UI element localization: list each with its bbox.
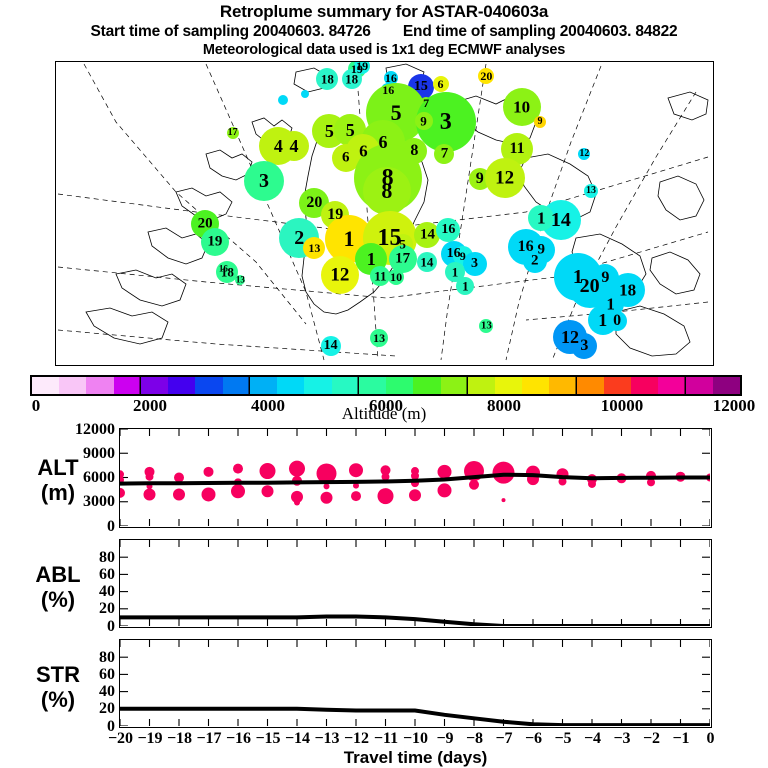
plume-bubble-label: 5 [325,122,334,140]
plume-bubble-label: 15 [378,226,402,250]
altitude-colorbar [30,375,742,396]
alt-scatter-point [260,463,276,479]
x-tick: −3 [613,730,630,748]
plume-bubble-label: 1 [537,210,546,227]
alt-y-tick: 6000 [55,469,115,487]
abl-y-tick: 0 [55,618,115,636]
plume-bubble-label: 13 [308,242,320,254]
plume-bubble-label: 14 [420,227,435,242]
plume-bubble-label: 1 [606,295,615,312]
x-tick: −5 [554,730,571,748]
x-tick: −6 [525,730,542,748]
plume-bubble-label: 14 [324,339,338,353]
colorbar-segment [522,377,549,394]
x-tick: −8 [466,730,483,748]
colorbar-segment [359,377,386,394]
plume-bubble-label: 16 [441,223,455,237]
alt-timeseries-panel [119,428,712,528]
plume-bubble-label: 0 [613,313,621,329]
x-tick: −13 [314,730,339,748]
plume-bubble-label: 9 [538,243,546,258]
plume-bubble-label: 3 [440,110,452,134]
plume-bubble-label: 13 [236,275,245,284]
plume-bubble-label: 1 [452,266,459,279]
plume-bubble-label: 4 [290,137,299,155]
start-time-label: Start time of sampling 20040603. 84726 [91,23,371,40]
plume-bubble-label: 1 [462,279,469,292]
alt-scatter-point [120,488,125,498]
plume-bubble-label: 14 [420,255,433,268]
alt-scatter-point [204,467,214,477]
plume-bubble-label: 2 [531,253,539,268]
page-title: Retroplume summary for ASTAR-040603a [0,0,768,22]
str-timeseries-panel [119,639,712,728]
plume-bubble-label: 1 [367,250,376,268]
colorbar-segment [549,377,576,394]
x-tick: −17 [196,730,221,748]
colorbar-segment [413,377,440,394]
x-tick: −2 [643,730,660,748]
colorbar-segment [332,377,359,394]
plume-bubble-label: 13 [481,321,492,332]
alt-scatter-point [502,498,506,502]
plume-bubble-label: 6 [359,142,368,159]
plume-bubble [278,95,288,105]
plume-bubble-label: 2 [294,228,304,248]
plume-bubble-label: 3 [471,257,478,271]
plume-bubble-label: 16 [447,247,461,261]
plume-bubble-label: 6 [438,78,444,90]
colorbar-segment [468,377,495,394]
alt-plot-area [120,429,710,526]
colorbar-segment [141,377,168,394]
x-tick: −16 [226,730,251,748]
plume-bubble-label: 13 [586,186,596,196]
alt-scatter-point [233,464,243,474]
alt-scatter-point [231,484,245,498]
plume-bubble-label: 12 [330,266,349,285]
plume-bubble-label: 11 [374,269,386,282]
plume-bubble-label: 15 [414,80,428,94]
x-tick: 0 [707,730,715,748]
colorbar-segment [168,377,195,394]
x-tick: −19 [137,730,162,748]
alt-scatter-point [289,461,305,477]
colorbar-segment [495,377,522,394]
alt-scatter-point [378,488,394,504]
str-y-tick: 60 [55,666,115,684]
abl-y-tick: 20 [55,600,115,618]
colorbar-segment [250,377,277,394]
x-tick: −10 [403,730,428,748]
plume-bubble-label: 10 [513,99,530,116]
alt-y-tick: 9000 [55,445,115,463]
x-tick: −4 [584,730,601,748]
str-y-tick: 40 [55,683,115,701]
alt-scatter-point [174,473,184,483]
alt-scatter-point [438,483,452,497]
plume-bubble-label: 1 [598,311,607,329]
plume-bubble-label: 20 [580,276,600,296]
alt-scatter-point [438,465,452,479]
plume-bubble-label: 5 [391,102,402,124]
x-tick: −14 [285,730,310,748]
colorbar-segment [686,377,713,394]
alt-scatter-point [202,487,216,501]
plume-bubble-label: 17 [228,128,238,138]
plume-bubble-label: 6 [379,133,388,151]
sampling-time-line: Start time of sampling 20040603. 84726 E… [0,22,768,41]
plume-bubble-label: 9 [460,250,466,262]
plume-bubble-label: 6 [342,151,350,166]
plume-bubble [301,90,309,98]
plume-bubble-label: 12 [495,168,514,187]
str-y-tick: 20 [55,700,115,718]
colorbar-segment [658,377,685,394]
plume-bubble-label: 12 [561,328,579,346]
plume-bubble-label: 9 [420,114,427,127]
plume-bubble-label: 5 [346,121,355,139]
plume-bubble-label: 18 [345,73,358,86]
alt-scatter-point [409,489,421,501]
colorbar-segment [713,377,740,394]
x-tick: −12 [344,730,369,748]
alt-scatter-point [262,485,274,497]
plume-bubble-label: 19 [207,235,222,250]
abl-y-tick: 40 [55,583,115,601]
plume-bubble-label: 1 [343,228,354,250]
colorbar-segment [577,377,604,394]
colorbar-segment [386,377,413,394]
plume-bubble-label: 16 [382,84,394,96]
x-axis-title: Travel time (days) [119,748,712,768]
plume-bubble-label: 9 [601,270,609,286]
plume-bubble-label: 17 [395,251,410,266]
colorbar-segment [195,377,222,394]
alt-scatter-point [493,462,515,484]
alt-scatter-point [294,500,300,506]
x-tick: −11 [374,730,398,748]
alt-scatter-point [469,480,479,490]
colorbar-segment [59,377,86,394]
abl-y-tick: 80 [55,549,115,567]
alt-y-tick: 12000 [43,421,115,439]
colorbar-segment [631,377,658,394]
x-tick: −7 [495,730,512,748]
alt-y-tick: 3000 [55,493,115,511]
alt-y-tick: 0 [55,518,115,536]
plume-bubble-label: 8 [410,143,418,159]
plume-bubble-label: 7 [441,146,449,161]
alt-scatter-point [173,488,185,500]
plume-bubble-label: 18 [619,282,636,299]
colorbar-segment [277,377,304,394]
plume-bubble-label: 14 [551,210,571,230]
colorbar-segment [304,377,331,394]
met-data-label: Meteorological data used is 1x1 deg ECMW… [0,41,768,59]
alt-scatter-point [349,463,363,477]
plume-bubble-label: 19 [356,61,368,72]
title-block: Retroplume summary for ASTAR-040603a Sta… [0,0,768,59]
str-y-tick: 0 [55,718,115,736]
colorbar-segment [223,377,250,394]
plume-bubble-label: 4 [274,137,283,155]
str-y-tick: 80 [55,649,115,667]
plume-bubble-label: 3 [580,338,588,354]
abl-timeseries-panel [119,539,712,628]
alt-scatter-point [588,480,596,488]
plume-bubble-label: 10 [390,271,402,283]
x-tick: −18 [167,730,192,748]
plume-bubble-label: 20 [198,217,213,232]
alt-scatter-point [144,488,156,500]
plume-bubble-label: 12 [579,149,589,159]
alt-scatter-point [146,473,154,481]
x-tick: −1 [672,730,689,748]
retroplume-bubbles: 1819181616156720109115395566687443889122… [56,62,713,365]
plume-bubble-label: 18 [321,72,334,85]
colorbar-title: Altitude (m) [0,404,768,424]
alt-scatter-point [324,483,330,489]
plume-bubble-label: 7 [423,97,429,109]
str-plot-area [120,640,710,726]
x-tick: −20 [108,730,133,748]
plume-bubble-label: 20 [306,195,322,211]
plume-bubble-label: 9 [537,117,542,127]
plume-bubble-label: 8 [381,180,392,202]
colorbar-segment [32,377,59,394]
plume-bubble-label: 20 [480,70,492,82]
plume-bubble-label: 3 [259,171,269,191]
plume-bubble-label: 19 [327,207,343,223]
plume-bubble-label: 5 [399,237,406,250]
colorbar-segment [604,377,631,394]
plume-bubble-label: 9 [476,171,484,187]
alt-scatter-point [321,492,333,504]
colorbar-segment [114,377,141,394]
colorbar-segment [86,377,113,394]
x-tick: −9 [436,730,453,748]
colorbar-segment [441,377,468,394]
alt-scatter-point [351,491,361,501]
retroplume-map: 1819181616156720109115395566687443889122… [55,61,714,366]
x-tick: −15 [255,730,280,748]
plume-bubble-label: 16 [219,265,228,274]
abl-y-tick: 60 [55,566,115,584]
plume-bubble-label: 11 [510,141,525,157]
abl-plot-area [120,540,710,626]
plume-bubble-label: 13 [373,332,385,344]
end-time-label: End time of sampling 20040603. 84822 [403,23,678,40]
